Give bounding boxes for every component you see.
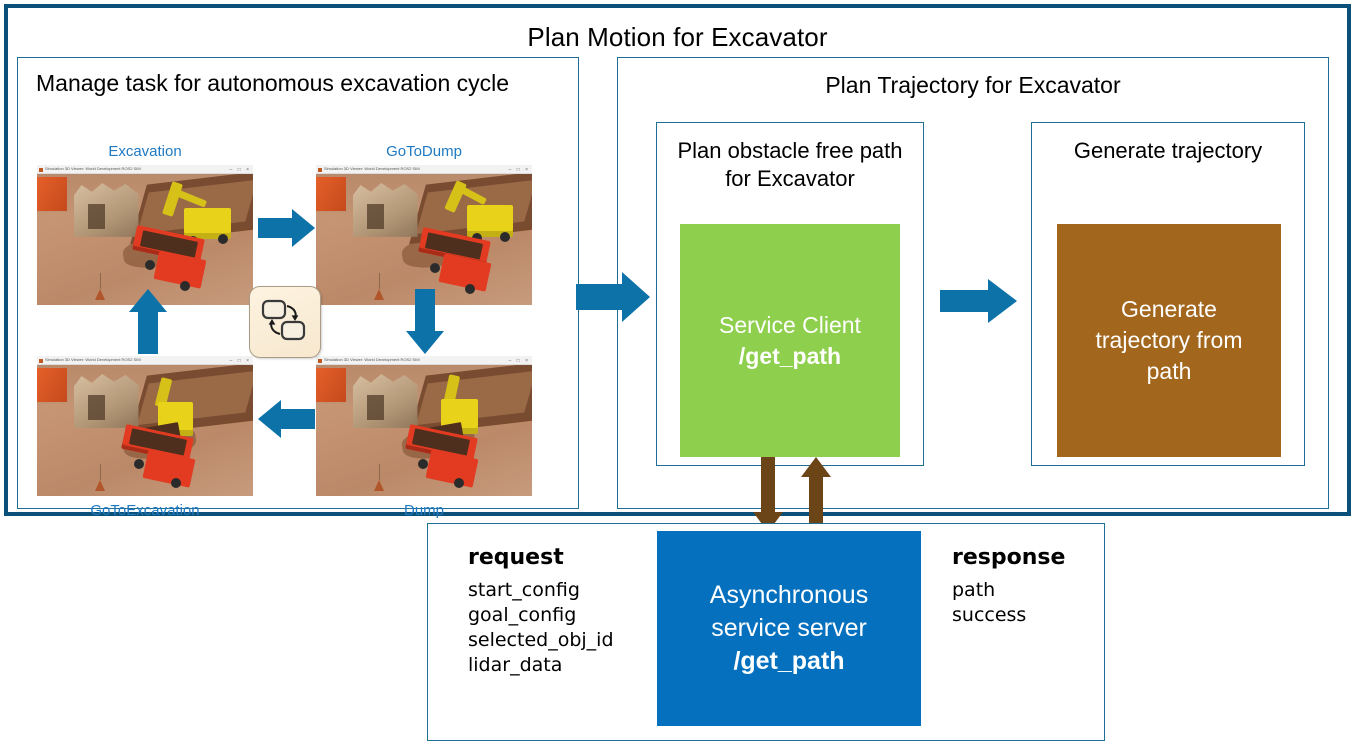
sim-window-excavation: Simulation 3D Viewer: World Development … [37, 165, 253, 305]
state-label-excavation: Excavation [37, 143, 253, 160]
state-label-gotodump: GoToDump [316, 143, 532, 160]
plan-obstacle-free-path-title: Plan obstacle free path for Excavator [665, 137, 915, 193]
sim-window-title: Simulation 3D Viewer: World Development … [45, 166, 141, 171]
request-field-start-config: start_config [468, 578, 614, 603]
sim-scene-gotoexcavation [37, 365, 253, 496]
sim-window-buttons[interactable]: – □ × [230, 167, 252, 173]
generate-trajectory-title: Generate trajectory [1040, 137, 1296, 165]
response-field-path: path [952, 578, 1065, 603]
sim-window-gotoexcavation: Simulation 3D Viewer: World Development … [37, 356, 253, 496]
sim-scene-gotodump [316, 174, 532, 305]
generate-trajectory-line2: trajectory from [1096, 325, 1243, 356]
sim-scene-excavation [37, 174, 253, 305]
generate-trajectory-line3: path [1096, 356, 1243, 387]
service-client-box[interactable]: Service Client /get_path [680, 224, 900, 457]
response-heading: response [952, 545, 1065, 570]
transition-arrow-dump-to-gotoexcavation [258, 398, 316, 445]
state-label-dump: Dump [316, 502, 532, 519]
generate-trajectory-line1: Generate [1096, 294, 1243, 325]
service-client-label: Service Client [719, 310, 861, 341]
diagram-root: Plan Motion for Excavator Manage task fo… [0, 0, 1356, 747]
response-column: response path success [952, 545, 1065, 628]
async-service-server-line1: Asynchronous [710, 579, 868, 612]
async-service-server-topic: /get_path [710, 645, 868, 678]
stateflow-chart-icon [249, 286, 321, 358]
flow-arrow-to-plan-trajectory [576, 269, 651, 330]
transition-arrow-gotodump-to-dump [404, 289, 446, 360]
state-cell-gotoexcavation[interactable]: Simulation 3D Viewer: World Development … [37, 356, 253, 496]
sim-window-buttons[interactable]: – □ × [230, 358, 252, 364]
state-cell-gotodump[interactable]: GoToDump Simulation 3D Viewer: World Dev… [316, 165, 532, 305]
flow-arrow-to-generate-trajectory [940, 277, 1018, 330]
sim-window-dump: Simulation 3D Viewer: World Development … [316, 356, 532, 496]
state-cell-excavation[interactable]: Excavation Simulation 3D Viewer: World D… [37, 165, 253, 305]
request-field-selected-obj-id: selected_obj_id [468, 628, 614, 653]
request-field-goal-config: goal_config [468, 603, 614, 628]
state-cell-dump[interactable]: Simulation 3D Viewer: World Development … [316, 356, 532, 496]
async-service-server-line2: service server [710, 612, 868, 645]
manage-task-title: Manage task for autonomous excavation cy… [36, 70, 509, 97]
sim-scene-dump [316, 365, 532, 496]
request-column: request start_config goal_config selecte… [468, 545, 614, 678]
sim-window-title: Simulation 3D Viewer: World Development … [324, 166, 420, 171]
service-client-topic: /get_path [719, 341, 861, 372]
plan-trajectory-title: Plan Trajectory for Excavator [618, 72, 1328, 99]
response-field-success: success [952, 603, 1065, 628]
transition-arrow-excavation-to-gotodump [258, 207, 316, 254]
sim-window-buttons[interactable]: – □ × [509, 358, 531, 364]
page-title: Plan Motion for Excavator [8, 22, 1347, 53]
sim-titlebar: Simulation 3D Viewer: World Development … [316, 165, 532, 174]
sim-window-buttons[interactable]: – □ × [509, 167, 531, 173]
state-label-gotoexcavation: GoToExcavation [37, 502, 253, 519]
request-heading: request [468, 545, 614, 570]
generate-trajectory-box[interactable]: Generate trajectory from path [1057, 224, 1281, 457]
transition-arrow-gotoexcavation-to-excavation [127, 289, 169, 360]
sim-window-gotodump: Simulation 3D Viewer: World Development … [316, 165, 532, 305]
sim-titlebar: Simulation 3D Viewer: World Development … [37, 165, 253, 174]
request-field-lidar-data: lidar_data [468, 653, 614, 678]
async-service-server-box[interactable]: Asynchronous service server /get_path [657, 531, 921, 726]
